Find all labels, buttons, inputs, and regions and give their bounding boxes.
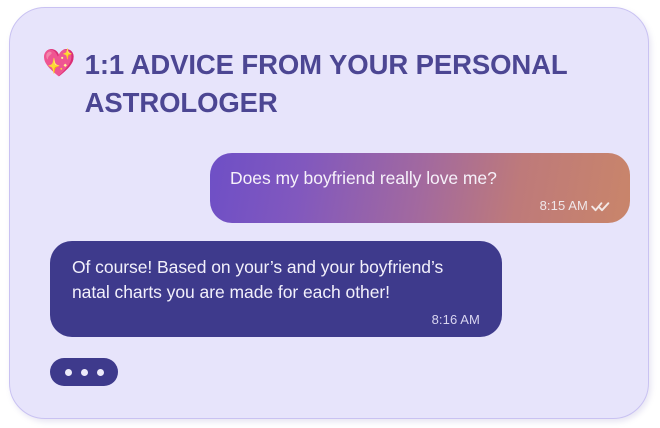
- message-text: Of course! Based on your’s and your boyf…: [72, 255, 480, 305]
- message-text: Does my boyfriend really love me?: [230, 166, 610, 191]
- typing-dot-1: [65, 369, 72, 376]
- card-header: 💖 1:1 ADVICE FROM YOUR PERSONAL ASTROLOG…: [42, 46, 608, 122]
- typing-indicator: [50, 358, 118, 386]
- typing-dot-2: [81, 369, 88, 376]
- sparkling-heart-icon: 💖: [42, 46, 76, 80]
- typing-dot-3: [97, 369, 104, 376]
- double-check-read-icon: [591, 200, 610, 213]
- message-bubble-incoming[interactable]: Of course! Based on your’s and your boyf…: [50, 241, 502, 337]
- message-bubble-outgoing[interactable]: Does my boyfriend really love me? 8:15 A…: [210, 153, 630, 223]
- header-row: 💖 1:1 ADVICE FROM YOUR PERSONAL ASTROLOG…: [42, 46, 608, 122]
- message-meta: 8:16 AM: [72, 311, 480, 329]
- screenshot-root: 💖 1:1 ADVICE FROM YOUR PERSONAL ASTROLOG…: [0, 0, 660, 428]
- message-meta: 8:15 AM: [230, 197, 610, 215]
- chat-promo-card: 💖 1:1 ADVICE FROM YOUR PERSONAL ASTROLOG…: [9, 7, 649, 419]
- message-timestamp: 8:15 AM: [540, 197, 588, 215]
- message-timestamp: 8:16 AM: [432, 311, 480, 329]
- message-thread: Does my boyfriend really love me? 8:15 A…: [10, 148, 648, 418]
- page-title: 1:1 ADVICE FROM YOUR PERSONAL ASTROLOGER: [85, 46, 585, 122]
